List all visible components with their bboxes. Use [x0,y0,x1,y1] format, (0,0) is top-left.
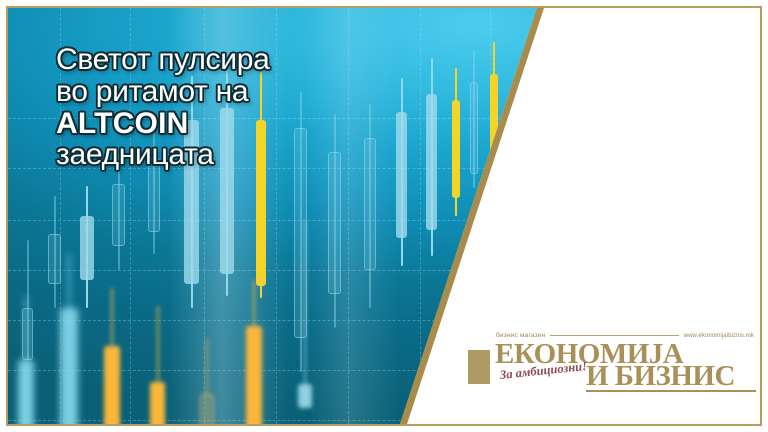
fg-candle-6-body [298,384,312,408]
headline-line-4: заедницата [56,139,386,171]
bg-candle-12 [426,8,437,424]
fg-candle-3-body [150,382,165,424]
headline-line-3: ALTCOIN [56,108,386,140]
banner-gold-frame: Светот пулсираво ритамот наALTCOINзаедни… [6,6,762,426]
headline-line-1: Светот пулсира [56,44,386,76]
logo-website-url: www.ekonomijaibiznis.mk [684,333,754,339]
bg-candle-13 [452,8,460,424]
logo-underline [586,390,756,392]
magazine-logo[interactable]: бизнис магазин www.ekonomijaibiznis.mk Е… [468,330,756,396]
bg-candle-11-body [396,112,407,238]
headline: Светот пулсираво ритамот наALTCOINзаедни… [56,44,386,171]
headline-line-2: во ритамот на [56,76,386,108]
fg-candle-5-body [246,326,262,424]
fg-candle-2-body [104,346,120,424]
fg-candle-0-body [18,360,34,424]
bg-candle-11 [396,8,407,424]
fg-candle-6-wick [304,220,306,408]
logo-kicker-rule [550,335,678,336]
fg-candle-0 [18,8,34,424]
fg-candle-4-body [200,394,214,424]
fg-candle-1-body [60,308,78,424]
bg-candle-14-body [470,82,478,174]
bg-candle-12-body [426,94,437,230]
bg-candle-13-body [452,100,460,198]
bg-candle-2-body [80,216,94,280]
promo-banner: Светот пулсираво ритамот наALTCOINзаедни… [0,0,768,432]
logo-word-i-biznis: И БИЗНИС [586,360,735,393]
logo-square-mark [468,350,490,384]
banner-inner: Светот пулсираво ритамот наALTCOINзаедни… [8,8,760,424]
bg-candle-9-body [328,152,341,294]
